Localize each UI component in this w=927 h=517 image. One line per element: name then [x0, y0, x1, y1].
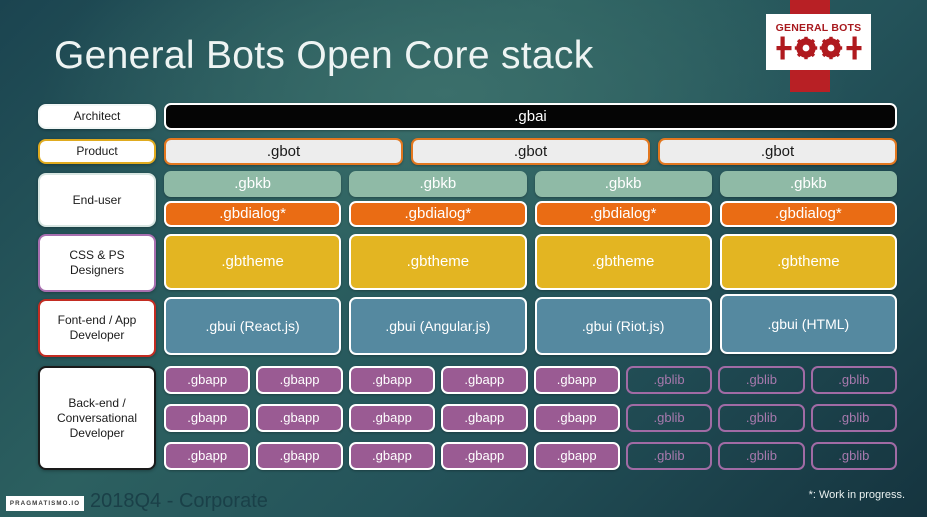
layer-gbot-3[interactable]: .gbot: [658, 138, 897, 165]
layer-gbapp-r1-c4[interactable]: .gbapp: [441, 366, 527, 394]
layer-gbkb-1[interactable]: .gbkb: [164, 171, 341, 197]
layer-gbdialog-3-label: .gbdialog*: [590, 205, 657, 222]
footer-note: *: Work in progress.: [809, 489, 905, 501]
layer-gbapp-r1-c3-label: .gbapp: [372, 373, 412, 388]
layer-gbdialog-2-label: .gbdialog*: [405, 205, 472, 222]
layer-gbkb-4-label: .gbkb: [790, 175, 827, 192]
layer-gblib-r2-c6-label: .gblib: [654, 411, 685, 426]
slide-canvas: GENERAL BOTS: [0, 0, 927, 517]
layer-gbdialog-4-label: .gbdialog*: [775, 205, 842, 222]
layer-gblib-r3-c6[interactable]: .gblib: [626, 442, 712, 470]
layer-gblib-r3-c7-label: .gblib: [746, 449, 777, 464]
layer-gbapp-r3-c5-label: .gbapp: [557, 449, 597, 464]
layer-gbui-3-label: .gbui (Riot.js): [582, 318, 664, 334]
layer-gblib-r3-c7[interactable]: .gblib: [718, 442, 804, 470]
layer-gbdialog-1[interactable]: .gbdialog*: [164, 201, 341, 227]
layer-gbtheme-2-label: .gbtheme: [407, 253, 470, 270]
layer-gbapp-r3-c4[interactable]: .gbapp: [441, 442, 527, 470]
role-label-font-end-app-developer: Font-end / App Developer: [38, 299, 156, 357]
layer-gbkb-4[interactable]: .gbkb: [720, 171, 897, 197]
layer-gbapp-r1-c1-label: .gbapp: [187, 373, 227, 388]
layer-gbapp-r1-c2-label: .gbapp: [280, 373, 320, 388]
role-label-text: Architect: [74, 109, 121, 124]
layer-gblib-r2-c8-label: .gblib: [838, 411, 869, 426]
pragmatismo-logo: PRAGMATISMO.IO: [6, 496, 84, 511]
role-label-end-user: End-user: [38, 173, 156, 227]
layer-gbapp-r1-c5-label: .gbapp: [557, 373, 597, 388]
role-label-text: End-user: [73, 193, 122, 208]
layer-gbui-1-label: .gbui (React.js): [206, 318, 300, 334]
layer-gbapp-r2-c3-label: .gbapp: [372, 411, 412, 426]
layer-gbapp-r3-c1[interactable]: .gbapp: [164, 442, 250, 470]
layer-gbkb-3-label: .gbkb: [605, 175, 642, 192]
layer-gbdialog-4[interactable]: .gbdialog*: [720, 201, 897, 227]
role-label-text: CSS & PS Designers: [44, 248, 150, 278]
layer-gbdialog-3[interactable]: .gbdialog*: [535, 201, 712, 227]
layer-gbapp-r2-c3[interactable]: .gbapp: [349, 404, 435, 432]
layer-gbapp-r1-c5[interactable]: .gbapp: [534, 366, 620, 394]
layer-gbapp-r2-c4[interactable]: .gbapp: [441, 404, 527, 432]
role-label-architect: Architect: [38, 104, 156, 129]
layer-gbapp-r2-c2-label: .gbapp: [280, 411, 320, 426]
role-label-text: Back-end / Conversational Developer: [44, 396, 150, 441]
layer-gbui-2-label: .gbui (Angular.js): [385, 318, 490, 334]
layer-gbapp-r3-c3-label: .gbapp: [372, 449, 412, 464]
role-label-text: Font-end / App Developer: [44, 313, 150, 343]
layer-gblib-r2-c6[interactable]: .gblib: [626, 404, 712, 432]
role-label-css-ps-designers: CSS & PS Designers: [38, 234, 156, 292]
layer-gbkb-2-label: .gbkb: [420, 175, 457, 192]
layer-gbot-1-label: .gbot: [267, 143, 300, 160]
layer-gblib-r3-c8[interactable]: .gblib: [811, 442, 897, 470]
layer-gbdialog-1-label: .gbdialog*: [219, 205, 286, 222]
layer-gbtheme-2[interactable]: .gbtheme: [349, 234, 526, 290]
layer-gblib-r1-c7[interactable]: .gblib: [718, 366, 804, 394]
layer-gbapp-r1-c3[interactable]: .gbapp: [349, 366, 435, 394]
footer-edition: 2018Q4 - Corporate: [90, 490, 268, 513]
layer-gblib-r2-c7-label: .gblib: [746, 411, 777, 426]
layer-gbapp-r2-c5[interactable]: .gbapp: [534, 404, 620, 432]
layer-gbui-3[interactable]: .gbui (Riot.js): [535, 297, 712, 355]
layer-gblib-r3-c8-label: .gblib: [838, 449, 869, 464]
layer-gblib-r1-c7-label: .gblib: [746, 373, 777, 388]
layer-gbkb-1-label: .gbkb: [234, 175, 271, 192]
layer-gbapp-r3-c2[interactable]: .gbapp: [256, 442, 342, 470]
layer-gbapp-r1-c4-label: .gbapp: [464, 373, 504, 388]
layer-gbui-4[interactable]: .gbui (HTML): [720, 294, 897, 354]
layer-gblib-r3-c6-label: .gblib: [654, 449, 685, 464]
layer-gblib-r1-c6-label: .gblib: [654, 373, 685, 388]
layer-gbapp-r3-c4-label: .gbapp: [464, 449, 504, 464]
role-label-text: Product: [76, 144, 117, 159]
layer-gbapp-r2-c2[interactable]: .gbapp: [256, 404, 342, 432]
layer-gbapp-r2-c5-label: .gbapp: [557, 411, 597, 426]
role-label-product: Product: [38, 139, 156, 164]
layer-gblib-r1-c6[interactable]: .gblib: [626, 366, 712, 394]
layer-gbkb-3[interactable]: .gbkb: [535, 171, 712, 197]
layer-gbapp-r2-c1[interactable]: .gbapp: [164, 404, 250, 432]
layer-gbai-label: .gbai: [514, 108, 547, 125]
layer-gbui-1[interactable]: .gbui (React.js): [164, 297, 341, 355]
architecture-stack: ArchitectProductEnd-userCSS & PS Designe…: [0, 0, 927, 517]
layer-gbai[interactable]: .gbai: [164, 103, 897, 130]
layer-gbui-2[interactable]: .gbui (Angular.js): [349, 297, 526, 355]
layer-gbtheme-1[interactable]: .gbtheme: [164, 234, 341, 290]
layer-gbtheme-1-label: .gbtheme: [221, 253, 284, 270]
layer-gbtheme-4[interactable]: .gbtheme: [720, 234, 897, 290]
layer-gbapp-r3-c2-label: .gbapp: [280, 449, 320, 464]
layer-gbapp-r3-c1-label: .gbapp: [187, 449, 227, 464]
layer-gbapp-r2-c1-label: .gbapp: [187, 411, 227, 426]
layer-gbapp-r1-c1[interactable]: .gbapp: [164, 366, 250, 394]
layer-gbui-4-label: .gbui (HTML): [768, 316, 850, 332]
layer-gbtheme-3[interactable]: .gbtheme: [535, 234, 712, 290]
layer-gbkb-2[interactable]: .gbkb: [349, 171, 526, 197]
role-label-back-end-conversational-developer: Back-end / Conversational Developer: [38, 366, 156, 470]
layer-gbot-1[interactable]: .gbot: [164, 138, 403, 165]
layer-gbapp-r2-c4-label: .gbapp: [464, 411, 504, 426]
layer-gbot-3-label: .gbot: [761, 143, 794, 160]
layer-gblib-r2-c8[interactable]: .gblib: [811, 404, 897, 432]
layer-gblib-r2-c7[interactable]: .gblib: [718, 404, 804, 432]
layer-gbot-2-label: .gbot: [514, 143, 547, 160]
layer-gbot-2[interactable]: .gbot: [411, 138, 650, 165]
layer-gbapp-r3-c3[interactable]: .gbapp: [349, 442, 435, 470]
layer-gblib-r1-c8[interactable]: .gblib: [811, 366, 897, 394]
layer-gbapp-r1-c2[interactable]: .gbapp: [256, 366, 342, 394]
layer-gbtheme-3-label: .gbtheme: [592, 253, 655, 270]
layer-gbtheme-4-label: .gbtheme: [777, 253, 840, 270]
layer-gbapp-r3-c5[interactable]: .gbapp: [534, 442, 620, 470]
layer-gblib-r1-c8-label: .gblib: [838, 373, 869, 388]
layer-gbdialog-2[interactable]: .gbdialog*: [349, 201, 526, 227]
